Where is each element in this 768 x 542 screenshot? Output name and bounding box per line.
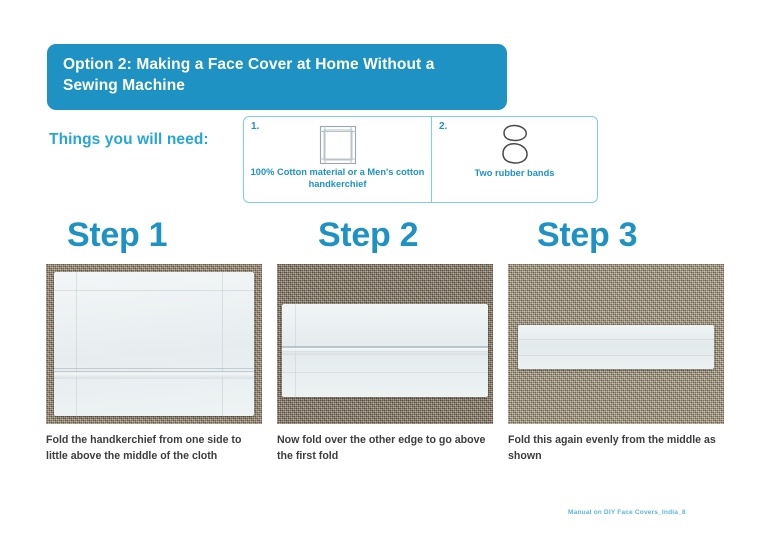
header-banner: Option 2: Making a Face Cover at Home Wi… [47, 44, 507, 110]
materials-box: 1. 100% Cotton material or a Men's cotto… [243, 116, 598, 203]
material-caption-1: 100% Cotton material or a Men's cotton h… [244, 167, 431, 191]
material-item-2: 2. Two rubber bands [432, 117, 597, 202]
material-number-1: 1. [251, 121, 259, 132]
step-1-title: Step 1 [46, 218, 262, 264]
handkerchief-icon [318, 122, 358, 167]
step-1: Step 1 Fold the handkerchief from one si… [46, 218, 262, 464]
footer-source-label: Manual on DIY Face Covers_India_8 [568, 509, 686, 516]
handkerchief-folded-strip [518, 325, 714, 369]
step-3-caption: Fold this again evenly from the middle a… [508, 433, 728, 464]
step-1-caption: Fold the handkerchief from one side to l… [46, 433, 260, 464]
rubber-bands-icon [495, 122, 535, 167]
banner-title: Option 2: Making a Face Cover at Home Wi… [63, 55, 491, 97]
material-caption-2: Two rubber bands [469, 168, 561, 180]
step-3-title: Step 3 [508, 218, 728, 264]
step-1-photo [46, 264, 262, 424]
material-item-1: 1. 100% Cotton material or a Men's cotto… [244, 117, 432, 202]
step-2-photo [277, 264, 493, 424]
things-you-will-need-label: Things you will need: [49, 131, 209, 149]
handkerchief-flat [54, 272, 254, 416]
step-3-photo [508, 264, 724, 424]
step-3: Step 3 Fold this again evenly from the m… [508, 218, 728, 464]
material-number-2: 2. [439, 121, 447, 132]
poster-page: Option 2: Making a Face Cover at Home Wi… [0, 0, 768, 542]
handkerchief-folded-band [282, 304, 488, 397]
step-2-title: Step 2 [277, 218, 493, 264]
step-2: Step 2 Now fold over the other edge to g… [277, 218, 493, 464]
step-2-caption: Now fold over the other edge to go above… [277, 433, 491, 464]
